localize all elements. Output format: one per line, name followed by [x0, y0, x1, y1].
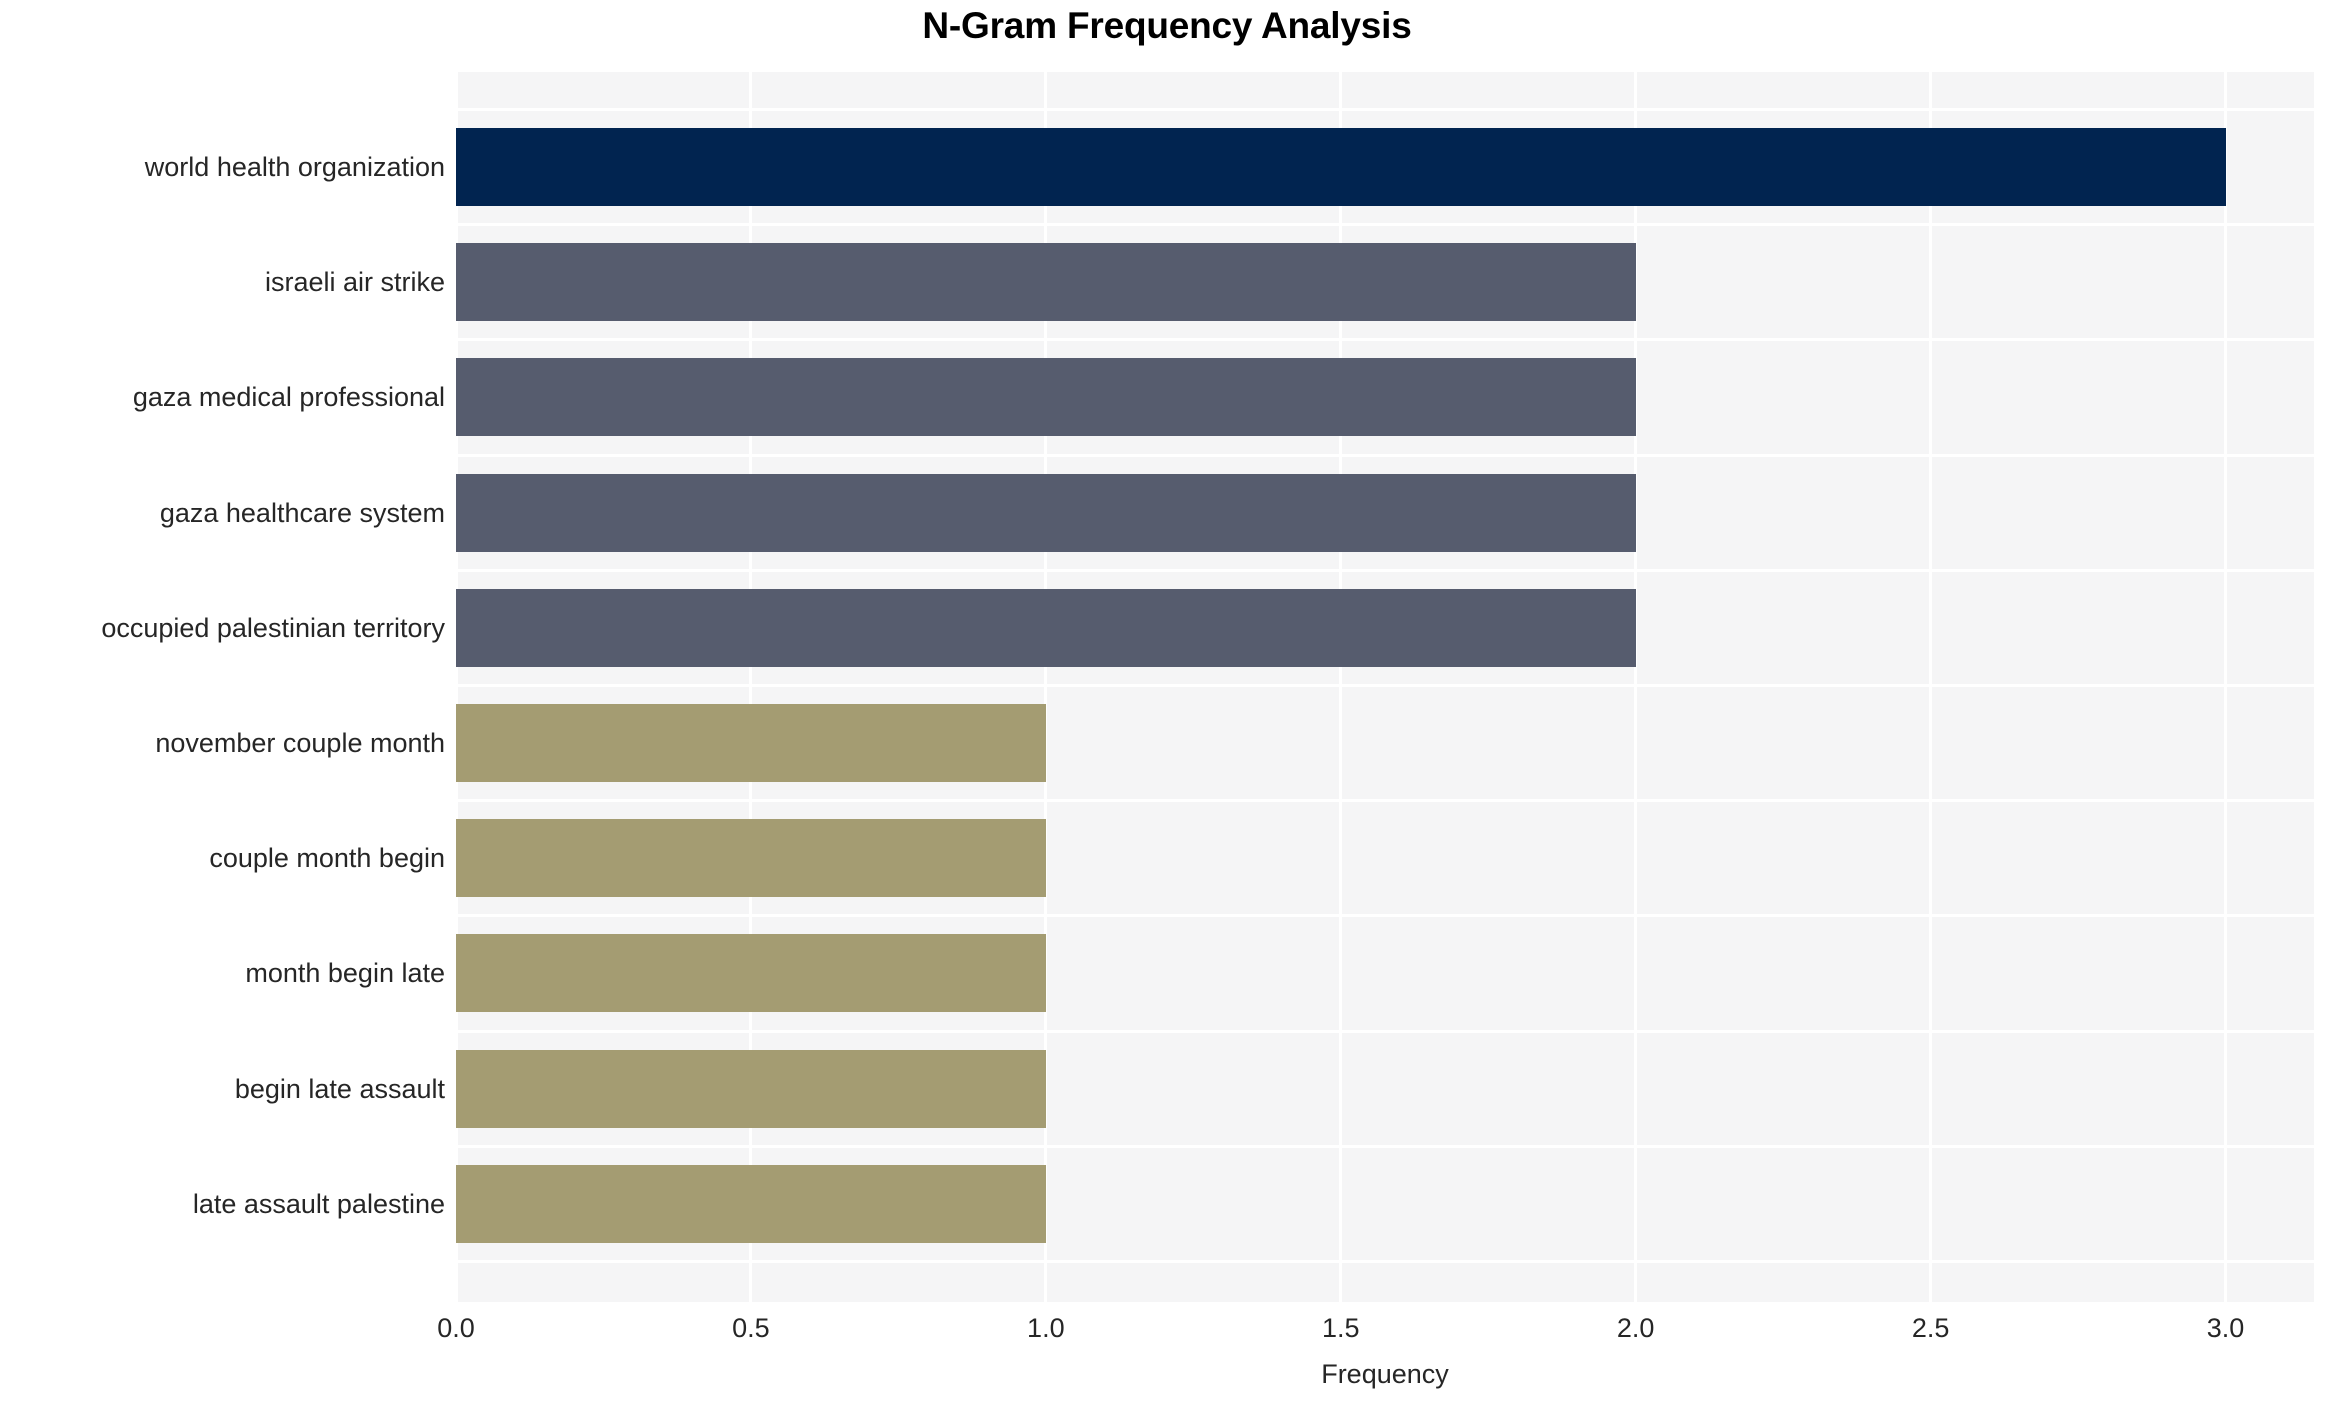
horizontal-gridline — [456, 1260, 2314, 1263]
y-axis-tick-label: late assault palestine — [15, 1188, 445, 1220]
bar — [456, 934, 1046, 1012]
bar — [456, 704, 1046, 782]
bar — [456, 128, 2226, 206]
horizontal-gridline — [456, 223, 2314, 226]
bar — [456, 589, 1636, 667]
horizontal-gridline — [456, 684, 2314, 687]
horizontal-gridline — [456, 569, 2314, 572]
horizontal-gridline — [456, 914, 2314, 917]
vertical-gridline-2.5 — [1929, 72, 1932, 1302]
x-axis-tick-label: 2.0 — [1556, 1312, 1716, 1344]
y-axis-tick-label: month begin late — [15, 957, 445, 989]
y-axis-tick-label: november couple month — [15, 727, 445, 759]
y-axis-tick-label: israeli air strike — [15, 266, 445, 298]
horizontal-gridline — [456, 338, 2314, 341]
y-axis-tick-label: couple month begin — [15, 842, 445, 874]
y-axis-tick-label: gaza healthcare system — [15, 497, 445, 529]
bar — [456, 358, 1636, 436]
x-axis-tick-label: 0.0 — [376, 1312, 536, 1344]
bar — [456, 819, 1046, 897]
x-axis-tick-label: 3.0 — [2146, 1312, 2306, 1344]
chart-title: N-Gram Frequency Analysis — [0, 4, 2334, 48]
y-axis-tick-label: world health organization — [15, 151, 445, 183]
vertical-gridline-3.0 — [2224, 72, 2227, 1302]
horizontal-gridline — [456, 799, 2314, 802]
x-axis-tick-label: 2.5 — [1851, 1312, 2011, 1344]
horizontal-gridline — [456, 108, 2314, 111]
bar — [456, 1165, 1046, 1243]
bar — [456, 243, 1636, 321]
x-axis-tick-label: 1.5 — [1261, 1312, 1421, 1344]
plot-area — [456, 72, 2314, 1302]
x-axis-tick-label: 1.0 — [966, 1312, 1126, 1344]
x-axis-tick-label: 0.5 — [671, 1312, 831, 1344]
horizontal-gridline — [456, 1145, 2314, 1148]
horizontal-gridline — [456, 1030, 2314, 1033]
x-axis-label: Frequency — [456, 1358, 2314, 1390]
horizontal-gridline — [456, 454, 2314, 457]
y-axis-tick-label: gaza medical professional — [15, 381, 445, 413]
y-axis-tick-label: occupied palestinian territory — [15, 612, 445, 644]
bar — [456, 474, 1636, 552]
chart-figure: N-Gram Frequency Analysis world health o… — [0, 0, 2334, 1402]
bar — [456, 1050, 1046, 1128]
y-axis-tick-label: begin late assault — [15, 1073, 445, 1105]
